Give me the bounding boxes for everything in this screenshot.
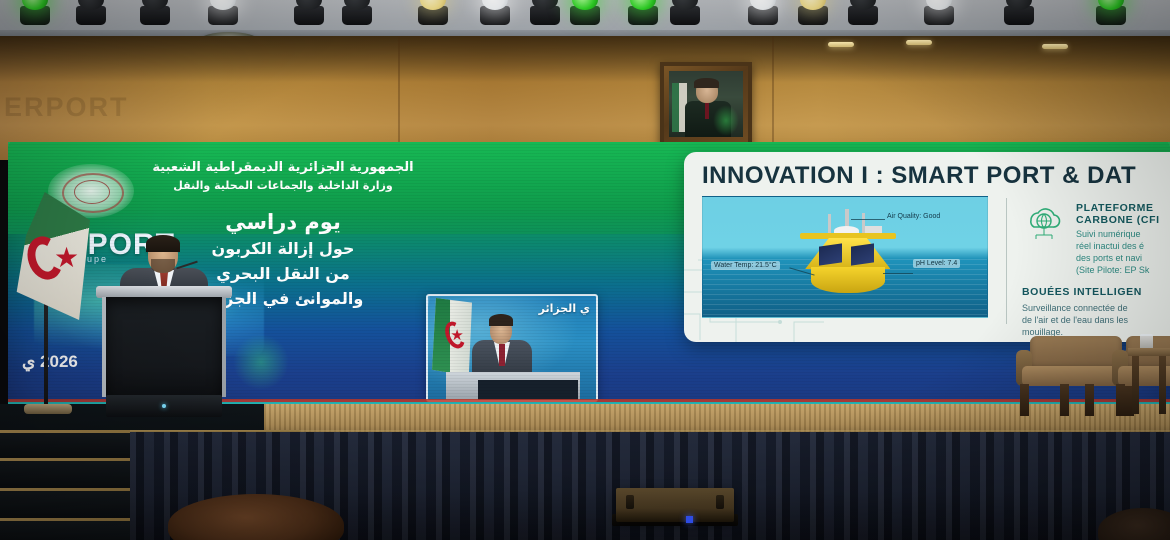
downlight-2-icon [906,40,932,45]
eco-leaf-badge-icon [233,334,289,390]
cloud-globe-icon [1022,204,1066,240]
led-event-title: يوم دراسي [118,210,448,234]
spot-white-2-icon [478,0,512,24]
spot-amber-2-icon [796,0,830,24]
spot-off-7-icon [846,0,880,24]
spot-off-5-icon [528,0,562,24]
slide-title: INNOVATION I : SMART PORT & DAT [702,162,1136,190]
av-projector-unit [616,488,734,522]
conference-photo-scene: ERPORT ERPORT groupe الجمهورية الجزائرية… [0,0,1170,540]
wall-signage-ghost: ERPORT [4,92,184,126]
section-1-body-line4: (Site Pilote: EP Sk [1076,264,1149,276]
spot-white-4-icon [922,0,956,24]
spot-off-2-icon [138,0,172,24]
presentation-slide: INNOVATION I : SMART PORT & DAT Air Qual… [684,152,1170,342]
spot-green-1-icon [18,0,52,24]
section-1-body-line2: réel inactui des é [1076,240,1144,252]
section-1-body-line3: des ports et navi [1076,252,1142,264]
section-1-heading-line1: PLATEFORME [1076,202,1154,214]
section-1-body-line1: Suivi numérique [1076,228,1141,240]
spot-off-6-icon [668,0,702,24]
spot-green-3-icon [626,0,660,24]
downlight-3-icon [1042,44,1068,49]
air-quality-label: Air Quality: Good [887,213,940,220]
spot-amber-1-icon [416,0,450,24]
ph-level-label: pH Level: 7.4 [913,259,960,268]
spot-green-2-icon [568,0,602,24]
official-portrait [660,62,752,146]
algeria-flag: ★ [12,192,90,320]
flag-stand-base [24,404,72,414]
spot-white-1-icon [206,0,240,24]
section-1-heading-line2: CARBONE (CFI [1076,214,1160,226]
side-table [1128,348,1170,418]
led-header-line2: وزارة الداخلية والجماعات المحلية والنقل [118,179,448,192]
downlight-1-icon [828,42,854,47]
section-2-body-line1: Surveillance connectée de [1022,302,1128,314]
pip-caption: ي الجزائر [539,302,590,315]
wall-shadow [0,36,1170,82]
speaker-podium [96,286,232,418]
spot-off-3-icon [292,0,326,24]
av-status-led-icon [686,516,693,523]
section-2-heading: BOUÉES INTELLIGEN [1022,286,1142,298]
led-header-line1: الجمهورية الجزائرية الديمقراطية الشعبية [118,160,448,175]
slide-divider [1006,198,1007,324]
live-video-feed: ★ ي الجزائر [426,294,598,402]
star-icon: ★ [54,244,79,272]
section-2-body-line2: de l'air et de l'eau dans les [1022,314,1128,326]
led-event-date: 2026 ي [22,352,78,372]
water-temp-label: Water Temp: 21.5°C [711,261,780,270]
spot-off-1-icon [74,0,108,24]
spot-white-3-icon [746,0,780,24]
smart-buoy-photo: Air Quality: Good Water Temp: 21.5°C pH … [702,196,988,318]
spot-green-4-icon [1094,0,1128,24]
spot-off-4-icon [340,0,374,24]
spot-off-8-icon [1002,0,1036,24]
